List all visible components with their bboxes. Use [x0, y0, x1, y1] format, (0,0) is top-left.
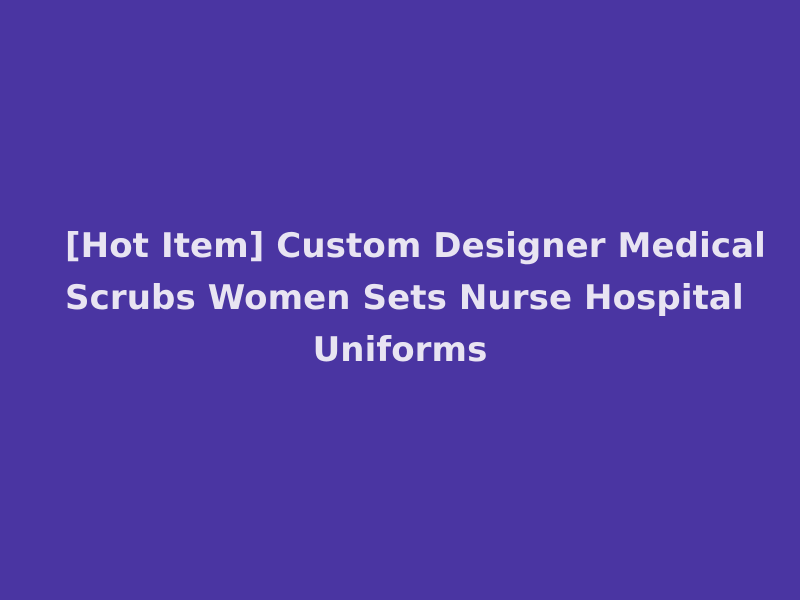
page-title: [Hot Item] Custom Designer Medical Scrub…: [55, 220, 745, 376]
page-title-line-2: Scrubs Women Sets Nurse Hospital: [65, 272, 735, 324]
product-title-card: [Hot Item] Custom Designer Medical Scrub…: [0, 0, 800, 600]
page-title-line-3: Uniforms: [65, 324, 735, 376]
page-title-line-1: [Hot Item] Custom Designer Medical: [65, 220, 735, 272]
